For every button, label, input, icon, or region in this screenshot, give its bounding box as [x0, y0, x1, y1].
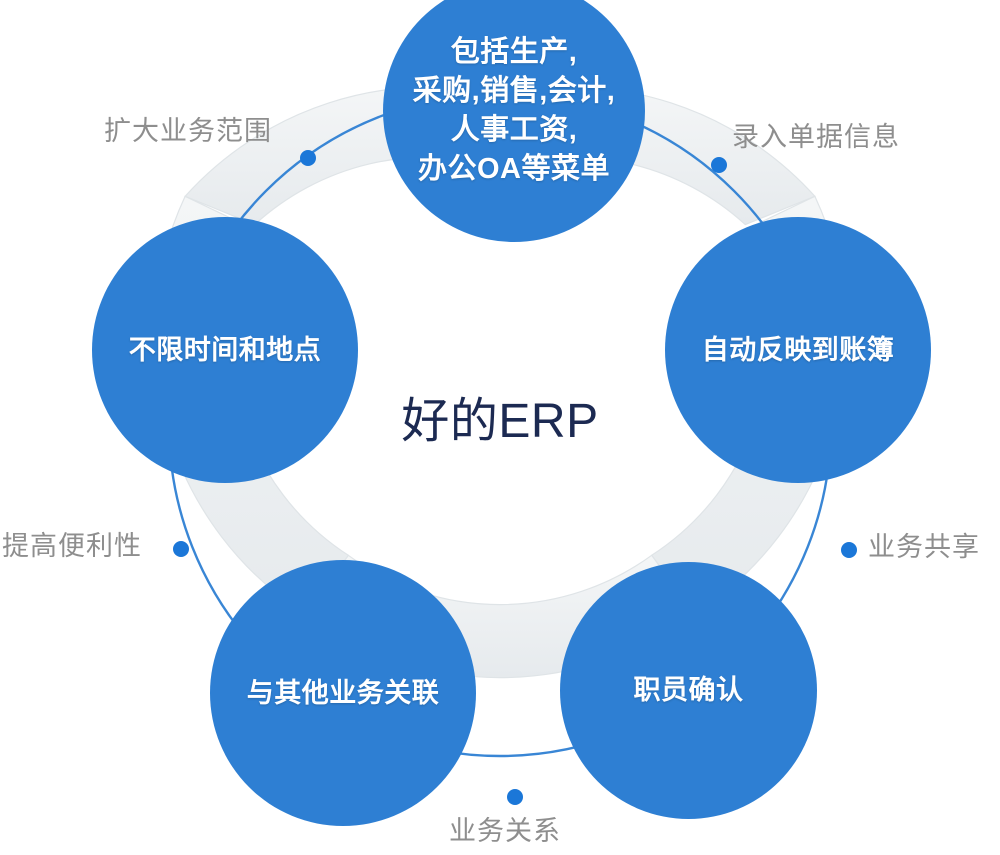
- node-left-label: 不限时间和地点: [119, 331, 332, 369]
- marker-dot-expand: [300, 150, 316, 166]
- outer-label-entry: 录入单据信息: [732, 124, 900, 151]
- marker-dot-convenience: [173, 541, 189, 557]
- outer-label-relation: 业务关系: [449, 818, 561, 845]
- node-right-label: 自动反映到账簿: [692, 331, 905, 369]
- outer-label-share: 业务共享: [868, 534, 980, 561]
- node-right[interactable]: 自动反映到账簿: [665, 217, 931, 483]
- node-bottom-left-label: 与其他业务关联: [237, 674, 450, 712]
- node-bottom-right-label: 职员确认: [624, 671, 754, 709]
- node-top-label: 包括生产, 采购,销售,会计, 人事工资, 办公OA等菜单: [403, 33, 626, 188]
- node-bottom-right[interactable]: 职员确认: [560, 562, 817, 819]
- node-bottom-left[interactable]: 与其他业务关联: [210, 560, 476, 826]
- center-title: 好的ERP: [330, 398, 670, 446]
- marker-dot-relation: [507, 789, 523, 805]
- diagram-canvas: 包括生产, 采购,销售,会计, 人事工资, 办公OA等菜单 自动反映到账簿 职员…: [0, 0, 1000, 855]
- node-left[interactable]: 不限时间和地点: [92, 217, 358, 483]
- outer-label-convenience: 提高便利性: [2, 533, 142, 560]
- marker-dot-entry: [711, 157, 727, 173]
- marker-dot-share: [841, 542, 857, 558]
- outer-label-expand: 扩大业务范围: [104, 118, 272, 145]
